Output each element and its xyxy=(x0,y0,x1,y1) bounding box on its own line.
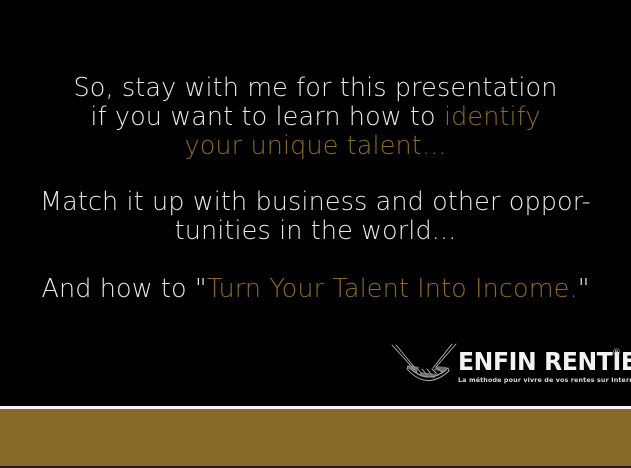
paragraph-1: So, stay with me for this presentation i… xyxy=(0,74,631,161)
slide-content-area: So, stay with me for this presentation i… xyxy=(0,0,631,406)
presentation-slide: So, stay with me for this presentation i… xyxy=(0,0,631,468)
paragraph-3-line-1: And how to "Turn Your Talent Into Income… xyxy=(0,275,631,304)
brand-wordmark: ENFIN RENTIER La méthode pour vivre de v… xyxy=(458,349,618,395)
slide-copy-block: So, stay with me for this presentation i… xyxy=(0,74,631,304)
paragraph-3-quote-close: " xyxy=(578,274,590,304)
paragraph-2: Match it up with business and other oppo… xyxy=(0,188,631,246)
registered-trademark-icon: ® xyxy=(612,349,621,358)
paragraph-2-line-2: tunities in the world... xyxy=(0,217,631,246)
brand-tagline: La méthode pour vivre de vos rentes sur … xyxy=(458,376,616,385)
brand-logo: ENFIN RENTIER La méthode pour vivre de v… xyxy=(386,339,618,401)
bottom-gold-band xyxy=(0,409,631,466)
hammock-icon xyxy=(386,341,468,397)
paragraph-3: And how to "Turn Your Talent Into Income… xyxy=(0,275,631,304)
paragraph-1-line-1: So, stay with me for this presentation xyxy=(0,74,631,103)
paragraph-1-line-2-plain: if you want to learn how to xyxy=(90,102,444,132)
paragraph-3-accent: Turn Your Talent Into Income. xyxy=(207,274,578,304)
brand-name: ENFIN RENTIER xyxy=(458,349,608,375)
paragraph-1-line-2: if you want to learn how to identify xyxy=(0,103,631,132)
paragraph-1-line-2-accent: identify xyxy=(444,102,541,132)
paragraph-2-line-1: Match it up with business and other oppo… xyxy=(0,188,631,217)
paragraph-1-line-3: your unique talent... xyxy=(0,132,631,161)
paragraph-3-quote-open: And how to " xyxy=(41,274,206,304)
